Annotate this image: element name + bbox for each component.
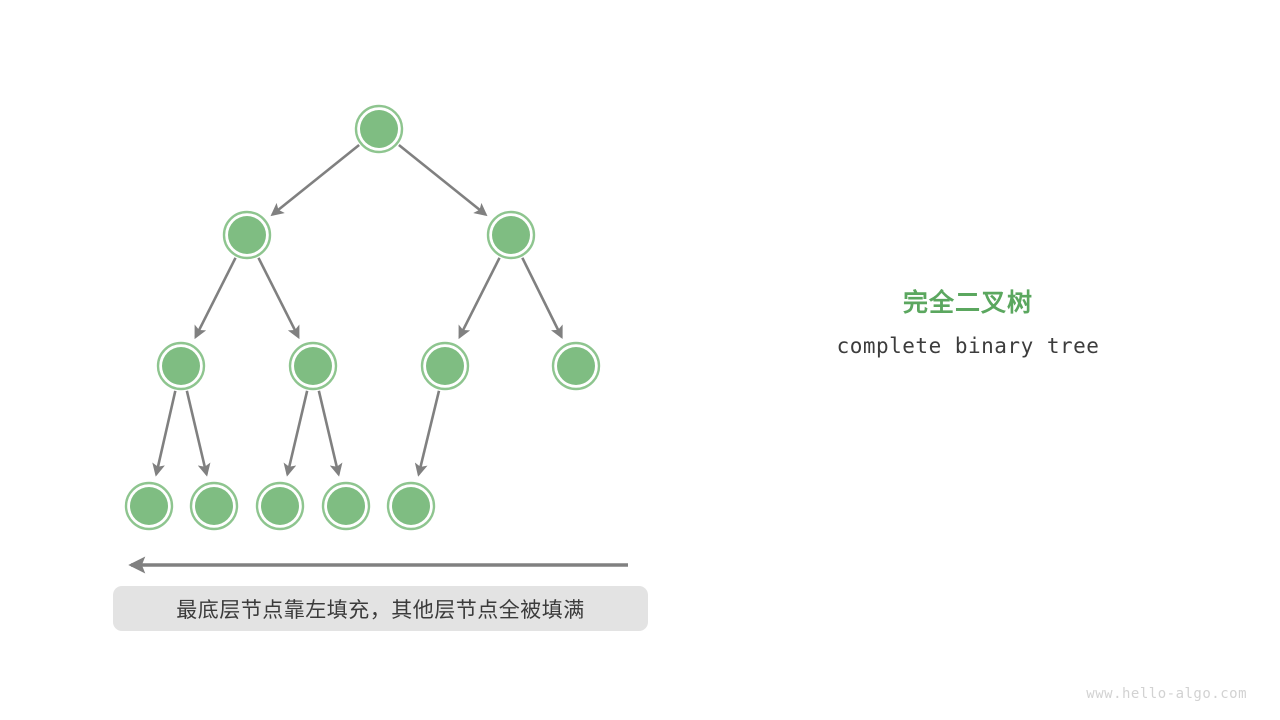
tree-node <box>290 343 336 389</box>
tree-node-fill <box>327 487 365 525</box>
watermark: www.hello-algo.com <box>1086 686 1247 702</box>
tree-edge <box>419 391 439 475</box>
tree-edge <box>522 258 561 337</box>
tree-edge <box>196 258 236 337</box>
tree-edge <box>272 145 359 215</box>
caption-box: 最底层节点靠左填充，其他层节点全被填满 <box>113 586 648 631</box>
tree-node <box>323 483 369 529</box>
tree-node-fill <box>360 110 398 148</box>
tree-node-fill <box>162 347 200 385</box>
legend-subtitle: complete binary tree <box>768 334 1168 358</box>
tree-node <box>257 483 303 529</box>
tree-node <box>356 106 402 152</box>
tree-node <box>158 343 204 389</box>
tree-node <box>224 212 270 258</box>
legend-title: 完全二叉树 <box>768 290 1168 318</box>
tree-node <box>488 212 534 258</box>
tree-node-fill <box>195 487 233 525</box>
tree-edge <box>258 258 298 337</box>
tree-node <box>191 483 237 529</box>
tree-node <box>553 343 599 389</box>
tree-node-fill <box>557 347 595 385</box>
tree-edge <box>399 145 486 215</box>
tree-nodes <box>126 106 599 529</box>
tree-node <box>388 483 434 529</box>
tree-node-fill <box>492 216 530 254</box>
diagram-canvas: 完全二叉树 complete binary tree 最底层节点靠左填充，其他层… <box>0 0 1280 720</box>
tree-edge <box>319 391 339 475</box>
tree-node-fill <box>426 347 464 385</box>
tree-node-fill <box>130 487 168 525</box>
tree-edge <box>460 258 500 337</box>
tree-edge <box>287 391 307 475</box>
tree-edge <box>187 391 207 475</box>
tree-edges <box>156 145 561 474</box>
legend: 完全二叉树 complete binary tree <box>768 290 1168 358</box>
tree-edge <box>156 391 175 474</box>
caption-text: 最底层节点靠左填充，其他层节点全被填满 <box>176 594 585 624</box>
tree-node-fill <box>294 347 332 385</box>
tree-node-fill <box>392 487 430 525</box>
tree-node <box>422 343 468 389</box>
tree-node-fill <box>261 487 299 525</box>
tree-node-fill <box>228 216 266 254</box>
tree-node <box>126 483 172 529</box>
